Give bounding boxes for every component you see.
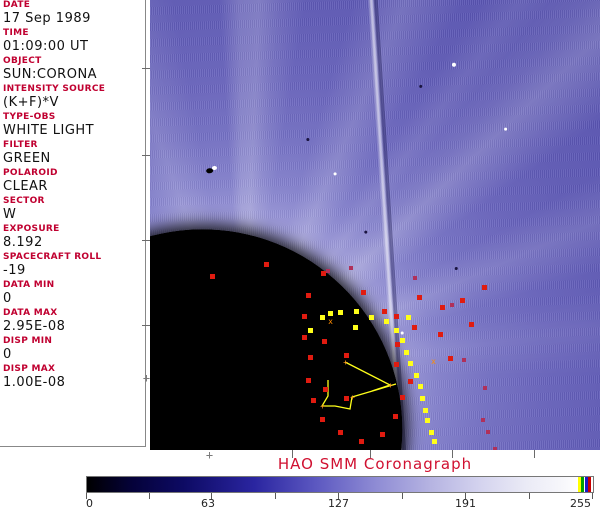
marker-red [469,322,474,327]
polygon-vertex: + [319,403,326,410]
marker-red [417,295,422,300]
header-field-value: 0 [3,291,142,306]
marker-red [359,439,364,444]
marker-red [361,290,366,295]
header-field-key: DISP MIN [3,336,142,347]
header-field-value: 1.00E-08 [3,375,142,390]
header-field-value: SUN:CORONA [3,67,142,82]
marker-yellow [432,439,437,444]
marker-red [438,332,443,337]
marker-yellow [420,396,425,401]
marker-red [408,379,413,384]
marker-yellow [338,310,343,315]
header-field-key: DISP MAX [3,364,142,375]
marker-yellow [418,384,423,389]
header-field-key: INTENSITY SOURCE [3,84,142,95]
header-field-value: 8.192 [3,235,142,250]
marker-red [311,398,316,403]
header-field: FILTERGREEN [0,140,145,166]
marker-yellow [408,361,413,366]
colorbar [86,476,594,493]
header-field: EXPOSURE8.192 [0,224,145,250]
marker-red [394,314,399,319]
marker-yellow [384,319,389,324]
colorbar-flag [588,477,591,492]
axis-tick-left [142,68,150,69]
marker-red [308,355,313,360]
marker-red [380,432,385,437]
marker-yellow [404,350,409,355]
header-field-key: EXPOSURE [3,224,142,235]
marker-yellow [369,315,374,320]
colorbar-tick-label: 191 [455,497,476,510]
header-field: INTENSITY SOURCE(K+F)*V [0,84,145,110]
axis-tick-left [142,325,150,326]
header-field-value: GREEN [3,151,142,166]
header-field: POLAROIDCLEAR [0,168,145,194]
header-field-value: -19 [3,263,142,278]
marker-purple [483,386,487,390]
header-field-key: FILTER [3,140,142,151]
marker-yellow [414,373,419,378]
axis-center-cross-left: + [141,373,152,384]
header-field: TYPE-OBSWHITE LIGHT [0,112,145,138]
axis-tick-left [142,155,150,156]
marker-red [400,395,405,400]
header-field-key: TYPE-OBS [3,112,142,123]
marker-yellow [320,315,325,320]
header-field-key: TIME [3,28,142,39]
marker-overlay: xx++++ [150,0,600,450]
marker-red [394,362,399,367]
marker-red [302,335,307,340]
marker-red [440,305,445,310]
header-field-value: 01:09:00 UT [3,39,142,54]
header-field-value: WHITE LIGHT [3,123,142,138]
marker-yellow [328,311,333,316]
coronagraph-image: xx++++ [150,0,600,450]
header-field-key: SECTOR [3,196,142,207]
marker-yellow [429,430,434,435]
marker-purple [486,430,490,434]
header-field: DATE17 Sep 1989 [0,0,145,26]
marker-red [306,293,311,298]
marker-yellow [394,328,399,333]
colorbar-tick-labels: 063127191255 [0,497,600,511]
header-field: DISP MIN0 [0,336,145,362]
marker-cross: x [430,358,437,365]
header-field-value: CLEAR [3,179,142,194]
header-field: DATA MAX2.95E-08 [0,308,145,334]
marker-red [264,262,269,267]
marker-yellow [400,338,405,343]
feature-polygon [150,0,600,450]
header-field-key: SPACECRAFT ROLL [3,252,142,263]
marker-red [412,325,417,330]
marker-cross: x [327,318,334,325]
marker-purple [481,418,485,422]
marker-yellow [423,408,428,413]
header-field-key: DATA MIN [3,280,142,291]
header-field-key: DATE [3,0,142,11]
marker-yellow [425,418,430,423]
marker-red [210,274,215,279]
header-field: DATA MIN0 [0,280,145,306]
marker-red [306,378,311,383]
header-field-value: 17 Sep 1989 [3,11,142,26]
header-field-value: 2.95E-08 [3,319,142,334]
colorbar-gradient [86,476,594,493]
marker-purple [450,303,454,307]
header-field: TIME01:09:00 UT [0,28,145,54]
marker-purple [349,266,353,270]
marker-red [322,339,327,344]
marker-purple [413,276,417,280]
marker-red [393,414,398,419]
page-title: HAO SMM Coronagraph [150,455,600,473]
marker-yellow [354,309,359,314]
colorbar-tick-label: 255 [570,497,591,510]
colorbar-tick-label: 63 [201,497,215,510]
header-field: SECTORW [0,196,145,222]
header-field-key: POLAROID [3,168,142,179]
header-field: SPACECRAFT ROLL-19 [0,252,145,278]
marker-red [302,314,307,319]
header-field-value: (K+F)*V [3,95,142,110]
axis-tick-left [142,240,150,241]
marker-yellow [353,325,358,330]
marker-red [320,417,325,422]
marker-purple [462,358,466,362]
polygon-vertex: + [387,382,394,389]
observation-header-panel: DATE17 Sep 1989TIME01:09:00 UTOBJECTSUN:… [0,0,146,447]
marker-red [338,430,343,435]
marker-red [482,285,487,290]
header-field-value: 0 [3,347,142,362]
marker-red [382,309,387,314]
colorbar-tick-label: 127 [328,497,349,510]
marker-red [448,356,453,361]
marker-purple [326,269,330,273]
marker-yellow [406,315,411,320]
colorbar-tick-label: 0 [86,497,93,510]
header-field: OBJECTSUN:CORONA [0,56,145,82]
marker-red [460,298,465,303]
marker-red [323,387,328,392]
marker-purple [493,447,497,450]
header-field: DISP MAX1.00E-08 [0,364,145,390]
marker-yellow [308,328,313,333]
header-field-value: W [3,207,142,222]
header-field-key: DATA MAX [3,308,142,319]
polygon-vertex: + [342,359,349,366]
polygon-vertex: + [349,394,356,401]
header-field-key: OBJECT [3,56,142,67]
